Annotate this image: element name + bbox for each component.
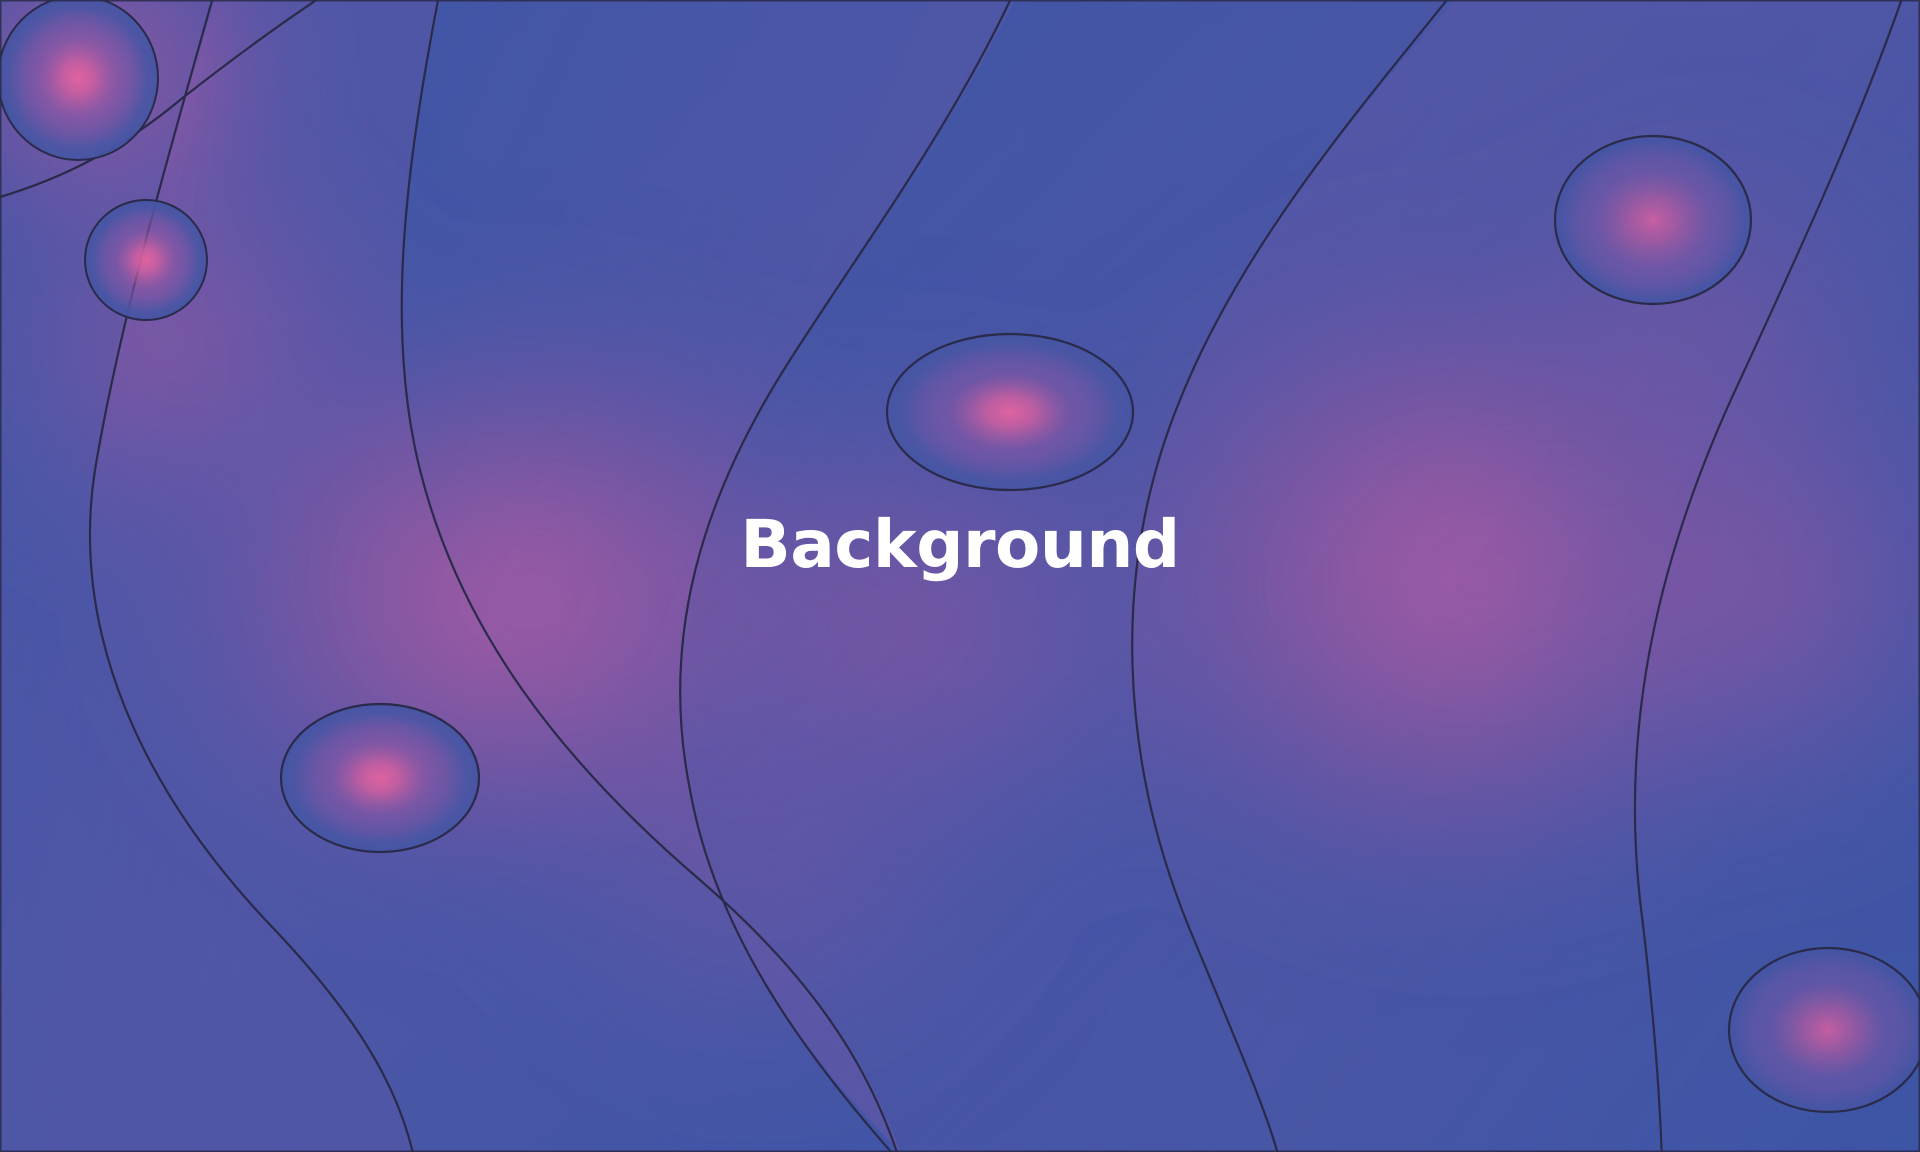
blob-upper-left <box>85 200 207 320</box>
blob-top-left-corner <box>0 0 158 160</box>
blob-lower-left <box>281 704 479 852</box>
background-graphic-canvas: Background <box>0 0 1920 1152</box>
abstract-background-artwork <box>0 0 1920 1152</box>
blob-upper-right <box>1555 136 1751 304</box>
blob-bottom-right <box>1729 948 1920 1112</box>
blob-center <box>887 334 1133 490</box>
